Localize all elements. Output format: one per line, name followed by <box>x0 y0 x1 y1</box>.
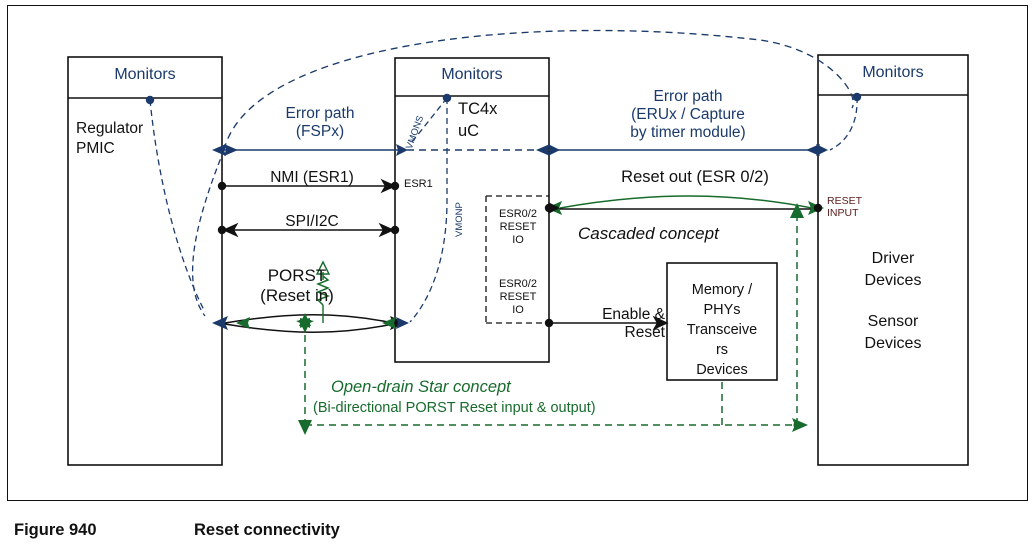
figure-caption: Figure 940 Reset connectivity <box>14 521 1014 551</box>
middle-io-port-bottom: ESR0/2 RESET IO <box>487 278 549 316</box>
middle-block-title-line2: uC <box>458 122 479 141</box>
open-drain-concept-subtitle: (Bi-directional PORST Reset input & outp… <box>313 400 596 417</box>
right-block-header: Monitors <box>818 64 968 83</box>
enable-reset-label: Enable & Reset <box>573 306 665 342</box>
middle-pin-esr1: ESR1 <box>404 178 433 191</box>
peripheral-line4: rs <box>667 342 777 359</box>
left-block-box <box>68 57 222 465</box>
nmi-label: NMI (ESR1) <box>232 169 392 187</box>
error-path-left-label: Error path (FSPx) <box>240 105 400 141</box>
right-block-title-line3: Sensor <box>818 313 968 332</box>
right-block-title-line1: Driver <box>818 250 968 269</box>
right-block-title-line2: Devices <box>818 272 968 291</box>
peripheral-line3: Transceive <box>667 322 777 339</box>
middle-io-port-top: ESR0/2 RESET IO <box>487 208 549 246</box>
figure-page: Monitors Regulator PMIC Monitors TC4x uC… <box>0 0 1033 556</box>
peripheral-line1: Memory / <box>667 282 777 299</box>
middle-block-title-line1: TC4x <box>458 100 497 119</box>
middle-pin-vmonp: VMONP <box>454 202 465 237</box>
figure-number: Figure 940 <box>14 521 97 540</box>
reset-out-label: Reset out (ESR 0/2) <box>570 168 820 187</box>
right-block-title-line4: Devices <box>818 335 968 354</box>
peripheral-line2: PHYs <box>667 302 777 319</box>
cascaded-concept-label: Cascaded concept <box>578 224 719 244</box>
peripheral-line5: Devices <box>667 362 777 379</box>
error-path-right-label: Error path (ERUx / Capture by timer modu… <box>568 88 808 142</box>
porst-label: PORST (Reset in) <box>222 266 372 305</box>
left-block-header: Monitors <box>68 66 222 85</box>
right-pin-reset-input: RESET INPUT <box>827 195 862 219</box>
spi-i2c-label: SPI/I2C <box>232 213 392 231</box>
reset-out-link <box>545 196 824 215</box>
left-block-title-line1: Regulator <box>76 120 143 138</box>
left-block-title-line2: PMIC <box>76 140 115 158</box>
porst-bidirectional-link <box>212 315 409 333</box>
open-drain-concept-title: Open-drain Star concept <box>331 378 511 397</box>
middle-block-header: Monitors <box>395 66 549 85</box>
figure-title: Reset connectivity <box>194 521 340 540</box>
